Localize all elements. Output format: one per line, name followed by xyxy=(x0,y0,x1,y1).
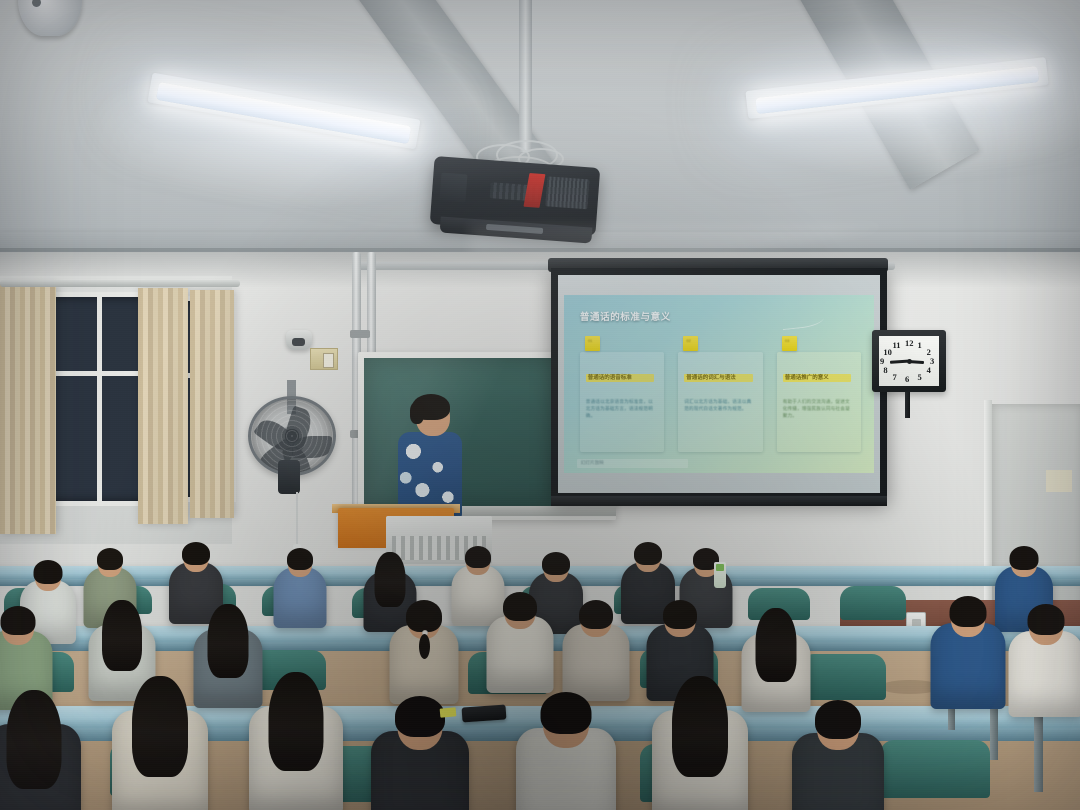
slide-card: 03 普通话推广的意义 有助于人们的交流沟通，促进文化传播，增强民族认同与社会凝… xyxy=(777,352,861,452)
slide-taskbar-label: 幻灯片放映 xyxy=(581,460,604,466)
pipe-clip xyxy=(350,330,370,338)
ponytail xyxy=(419,634,430,659)
student xyxy=(112,676,208,786)
clock-numeral: 5 xyxy=(918,372,922,382)
student xyxy=(931,596,1006,682)
curtain xyxy=(190,290,234,518)
clock-numeral: 8 xyxy=(883,365,887,375)
projection-screen: 普通话的标准与意义 01 普通话的语音标准 普通话以北京语音为标准音，以北方话为… xyxy=(551,268,887,500)
wall-switch-box xyxy=(310,348,338,370)
slide-card: 02 普通话的词汇与语法 词汇以北方话为基础，语法以典范的现代白话文著作为规范。 xyxy=(678,352,762,452)
student xyxy=(621,542,675,604)
student-long-hair xyxy=(269,672,324,771)
slide-card-badge: 01 xyxy=(585,336,600,351)
screen-bottom-bar xyxy=(551,496,887,506)
presenter xyxy=(396,398,464,518)
slide-card-badge-label: 02 xyxy=(686,339,695,348)
student-hair xyxy=(950,596,987,627)
clock-numeral: 10 xyxy=(883,347,892,357)
student-hair xyxy=(815,700,861,739)
student-long-hair xyxy=(208,604,249,678)
student xyxy=(1009,604,1080,690)
student-hair xyxy=(287,548,313,570)
slide-card-heading-label: 普通话的语音标准 xyxy=(588,374,632,382)
curtain xyxy=(138,288,188,524)
student xyxy=(0,690,81,798)
student-hair xyxy=(395,696,445,737)
clock-numeral: 4 xyxy=(927,365,931,375)
classroom-photo: 普通话的标准与意义 01 普通话的语音标准 普通话以北京语音为标准音，以北方话为… xyxy=(0,0,1080,810)
student-hair xyxy=(1028,604,1065,635)
student xyxy=(652,676,748,786)
student-long-hair xyxy=(132,676,188,777)
sticky-note xyxy=(440,707,457,717)
student xyxy=(249,672,343,780)
student-hair xyxy=(465,546,491,568)
student xyxy=(487,592,554,669)
student xyxy=(792,700,884,806)
student-long-hair xyxy=(672,676,728,777)
curtain xyxy=(0,284,56,534)
security-camera-icon xyxy=(286,330,312,350)
presenter-hair xyxy=(412,394,450,420)
clock-numeral: 12 xyxy=(905,338,914,348)
chair-back xyxy=(880,740,990,798)
student-hair xyxy=(406,600,442,632)
slide-cards: 01 普通话的语音标准 普通话以北京语音为标准音，以北方话为基础方言，语法规范明… xyxy=(580,352,861,452)
student-hair xyxy=(182,542,210,565)
slide-taskbar: 幻灯片放映 xyxy=(577,459,688,468)
student xyxy=(89,600,156,677)
chair-back xyxy=(840,586,906,620)
slide-card-body: 普通话以北京语音为标准音，以北方话为基础方言，语法规范明确。 xyxy=(586,398,658,419)
clock-center-pin xyxy=(907,359,912,364)
student-hair xyxy=(503,592,537,621)
clock-numeral: 7 xyxy=(893,372,897,382)
slide-title: 普通话的标准与意义 xyxy=(580,309,671,323)
water-bottle xyxy=(714,562,726,588)
student-long-hair xyxy=(7,690,62,789)
student xyxy=(0,606,53,685)
slide-card-heading: 普通话的语音标准 xyxy=(586,374,654,382)
student xyxy=(742,608,811,687)
slide-card-heading-label: 普通话推广的意义 xyxy=(785,374,829,382)
chair-back xyxy=(800,654,886,700)
wall-notice xyxy=(1046,470,1072,492)
student-hair xyxy=(34,560,63,584)
slide-card-badge: 03 xyxy=(782,336,797,351)
curtain-rod xyxy=(0,280,240,287)
student xyxy=(647,600,714,677)
smartphone-on-desk[interactable] xyxy=(462,704,507,722)
slide-card-badge-label: 01 xyxy=(588,339,597,348)
student-hair xyxy=(542,552,570,575)
screen-surface: 普通话的标准与意义 01 普通话的语音标准 普通话以北京语音为标准音，以北方话为… xyxy=(558,275,880,493)
student-hair xyxy=(97,548,123,570)
clock-numeral: 11 xyxy=(893,340,901,350)
slide-card-body: 有助于人们的交流沟通，促进文化传播，增强民族认同与社会凝聚力。 xyxy=(783,398,855,419)
student-hair xyxy=(634,542,662,565)
student-long-hair xyxy=(375,552,406,607)
slide-card-heading-label: 普通话的词汇与语法 xyxy=(686,374,736,382)
slide-underline-decoration xyxy=(781,312,824,330)
student xyxy=(563,600,630,677)
clock-numeral: 9 xyxy=(880,356,884,366)
slide-card-body: 词汇以北方话为基础，语法以典范的现代白话文著作为规范。 xyxy=(684,398,756,412)
slide-card-heading: 普通话的词汇与语法 xyxy=(684,374,752,382)
projector-mount xyxy=(519,0,532,152)
slide-card: 01 普通话的语音标准 普通话以北京语音为标准音，以北方话为基础方言，语法规范明… xyxy=(580,352,664,452)
student-hair xyxy=(1010,546,1039,570)
student-long-hair xyxy=(756,608,797,682)
slide-card-badge: 02 xyxy=(683,336,698,351)
slide-card-heading: 普通话推广的意义 xyxy=(783,374,851,382)
student-long-hair xyxy=(102,600,142,671)
slide-card-badge-label: 03 xyxy=(785,339,794,348)
clock-numeral: 1 xyxy=(918,340,922,350)
student xyxy=(274,548,327,609)
student-hair xyxy=(663,600,697,629)
student xyxy=(390,600,459,679)
student xyxy=(169,542,223,604)
clock-stem xyxy=(905,392,910,418)
fan-motor xyxy=(278,460,300,494)
student xyxy=(516,692,616,806)
alcove-edge xyxy=(984,400,992,624)
fan-pull-cord[interactable] xyxy=(296,492,298,548)
clock-numeral: 6 xyxy=(905,374,909,384)
projected-slide: 普通话的标准与意义 01 普通话的语音标准 普通话以北京语音为标准音，以北方话为… xyxy=(564,295,873,474)
student-hair xyxy=(541,692,592,734)
student-hair xyxy=(1,606,36,635)
ceiling-dome-camera-icon xyxy=(18,0,82,36)
student-hair xyxy=(579,600,613,629)
